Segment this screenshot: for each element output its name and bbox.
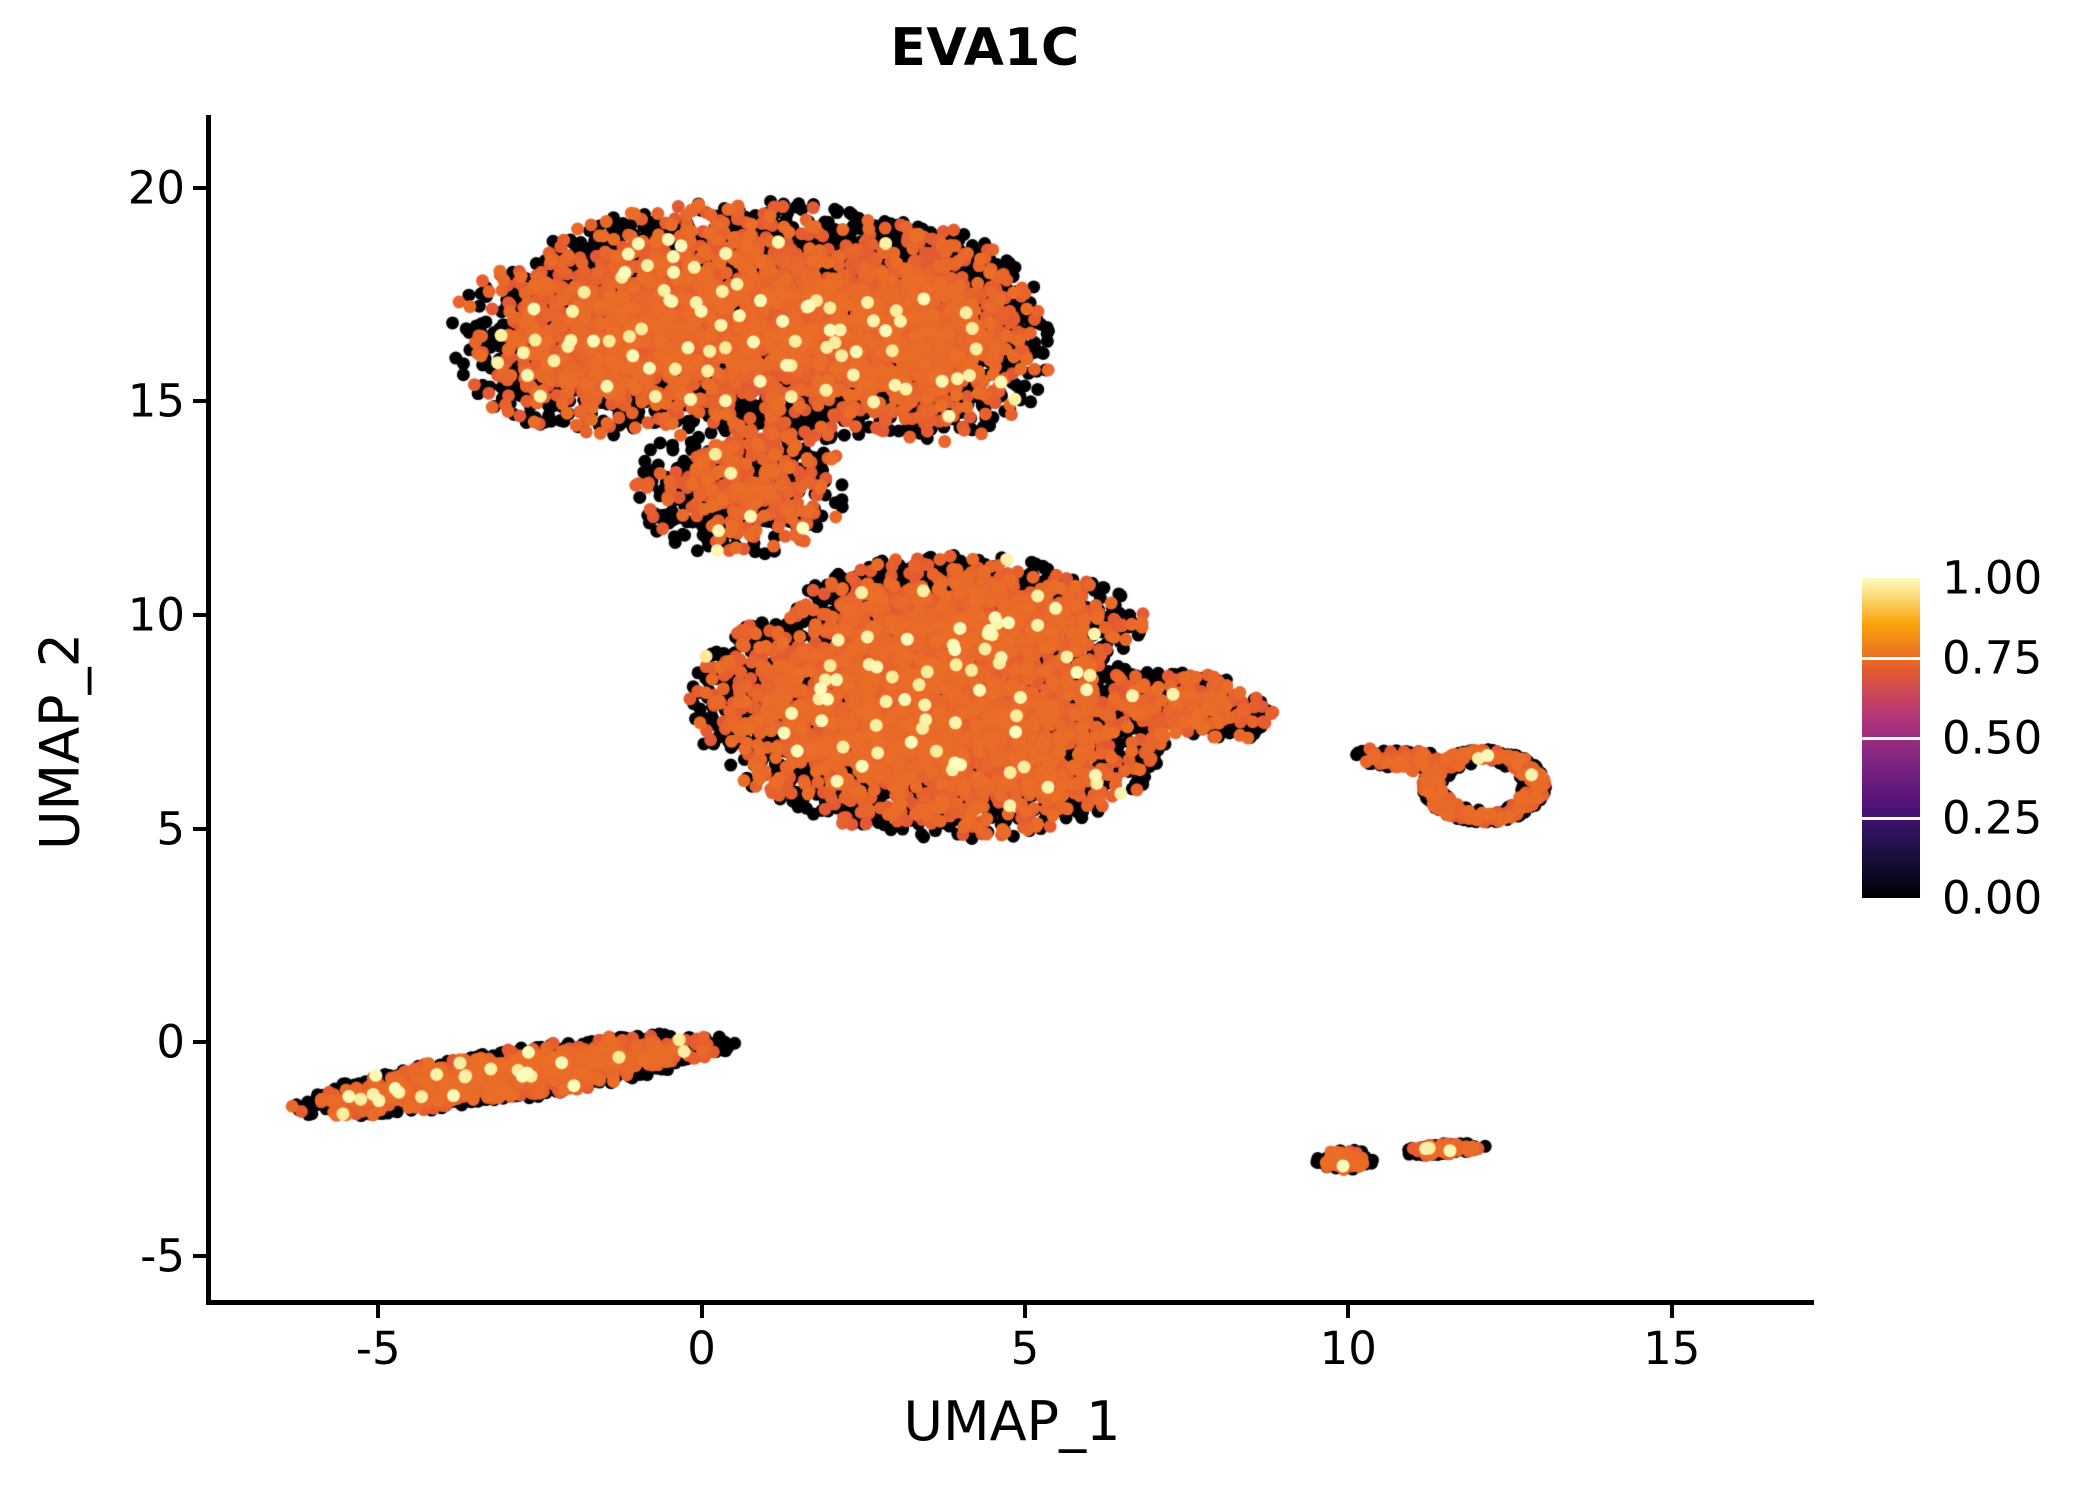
- x-tick-label: 10: [1320, 1322, 1377, 1375]
- x-tick-mark: [700, 1305, 704, 1318]
- scatter-plot-canvas: [210, 115, 1814, 1303]
- y-tick-label: -5: [140, 1229, 185, 1282]
- colorbar-tick-mark: [1862, 657, 1920, 660]
- colorbar-tick-label: 0.75: [1942, 632, 2042, 685]
- y-tick-label: 0: [156, 1016, 185, 1069]
- y-axis-spine: [206, 115, 211, 1305]
- y-tick-mark: [193, 1040, 206, 1044]
- y-tick-label: 20: [128, 161, 185, 214]
- x-tick-label: -5: [356, 1322, 401, 1375]
- x-tick-label: 0: [687, 1322, 716, 1375]
- umap-feature-plot: EVA1C 20151050-5 -5051015 UMAP_2 UMAP_1 …: [0, 0, 2100, 1500]
- x-tick-mark: [1670, 1305, 1674, 1318]
- y-axis-label: UMAP_2: [29, 392, 92, 1092]
- colorbar-tick-label: 0.00: [1942, 872, 2042, 925]
- page-title: EVA1C: [210, 18, 1760, 78]
- y-tick-mark: [193, 1254, 206, 1258]
- colorbar-tick-mark: [1862, 817, 1920, 820]
- y-tick-mark: [193, 613, 206, 617]
- colorbar-tick-mark: [1862, 737, 1920, 740]
- y-tick-label: 5: [156, 802, 185, 855]
- x-tick-label: 5: [1011, 1322, 1040, 1375]
- colorbar-tick-label: 0.25: [1942, 792, 2042, 845]
- x-tick-label: 15: [1643, 1322, 1700, 1375]
- y-tick-mark: [193, 186, 206, 190]
- x-axis-label: UMAP_1: [210, 1390, 1814, 1453]
- x-tick-mark: [1346, 1305, 1350, 1318]
- x-axis-spine: [206, 1300, 1814, 1305]
- colorbar-tick-label: 0.50: [1942, 712, 2042, 765]
- colorbar-tick-label: 1.00: [1942, 552, 2042, 605]
- y-tick-label: 15: [128, 375, 185, 428]
- y-tick-mark: [193, 399, 206, 403]
- x-tick-mark: [376, 1305, 380, 1318]
- y-tick-mark: [193, 827, 206, 831]
- y-tick-label: 10: [128, 588, 185, 641]
- x-tick-mark: [1023, 1305, 1027, 1318]
